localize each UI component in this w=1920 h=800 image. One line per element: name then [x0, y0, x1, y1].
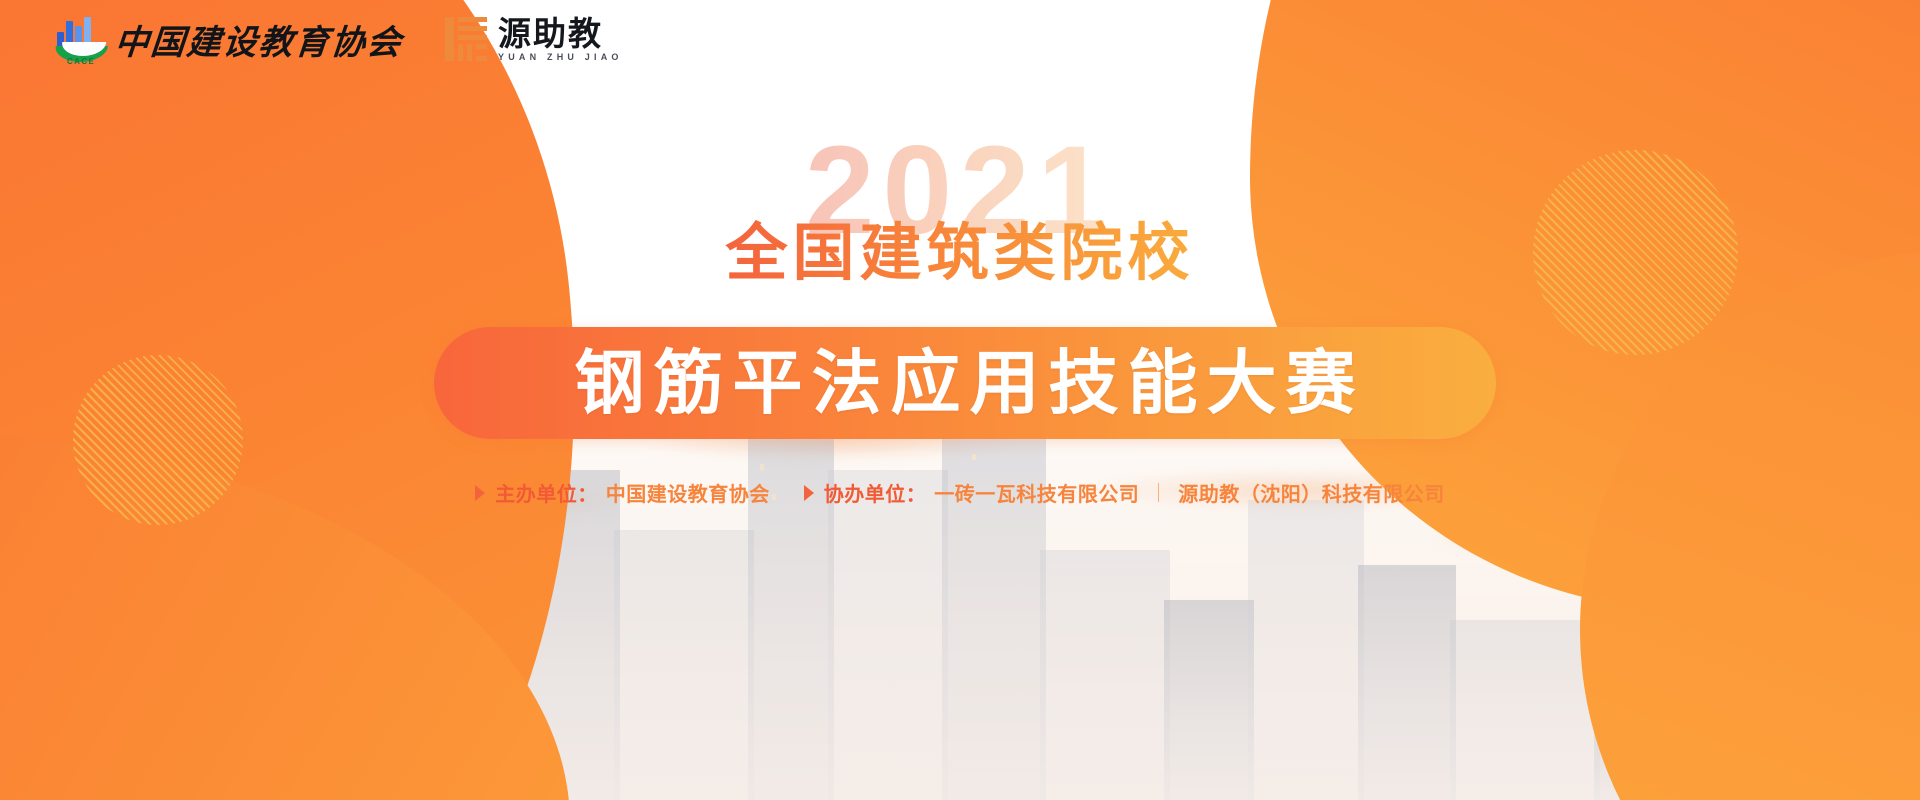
coorg-value-1: 一砖一瓦科技有限公司: [934, 478, 1139, 507]
host-value: 中国建设教育协会: [606, 478, 770, 507]
organizer-line: 主办单位： 中国建设教育协会 协办单位： 一砖一瓦科技有限公司 源助教（沈阳）科…: [0, 478, 1920, 507]
coorg-label: 协办单位：: [824, 478, 927, 507]
organizer-separator: [1158, 483, 1159, 502]
yuanzhujiao-logo-text: 源助教: [498, 17, 623, 50]
organizer-host: 主办单位： 中国建设教育协会: [475, 478, 770, 507]
cace-abbr: CACE: [67, 57, 95, 66]
yuanzhujiao-logo-pinyin: YUAN ZHU JIAO: [498, 52, 623, 62]
yuanzhujiao-square-logo-icon: [445, 17, 487, 61]
event-banner: CACE 中国建设教育协会 源助教 YUAN ZHU JIAO 2021: [0, 0, 1920, 800]
cace-logo: CACE 中国建设教育协会: [55, 14, 403, 64]
host-label: 主办单位：: [495, 478, 598, 507]
event-title-pill: 钢筋平法应用技能大赛: [434, 327, 1496, 439]
hatched-circle-right: [1533, 150, 1738, 355]
coorg-value-2: 源助教（沈阳）科技有限公司: [1178, 478, 1445, 507]
yuanzhujiao-logo: 源助教 YUAN ZHU JIAO: [445, 17, 623, 62]
chevron-right-icon: [475, 485, 485, 501]
logo-row: CACE 中国建设教育协会 源助教 YUAN ZHU JIAO: [55, 14, 623, 64]
chevron-right-icon: [804, 485, 814, 501]
event-title: 钢筋平法应用技能大赛: [566, 348, 1365, 418]
cace-logo-text: 中国建设教育协会: [113, 15, 405, 64]
event-subhead: 全国建筑类院校: [725, 218, 1194, 289]
cace-building-chart-logo-icon: CACE: [55, 14, 107, 64]
organizer-coorg: 协办单位： 一砖一瓦科技有限公司 源助教（沈阳）科技有限公司: [804, 478, 1445, 507]
